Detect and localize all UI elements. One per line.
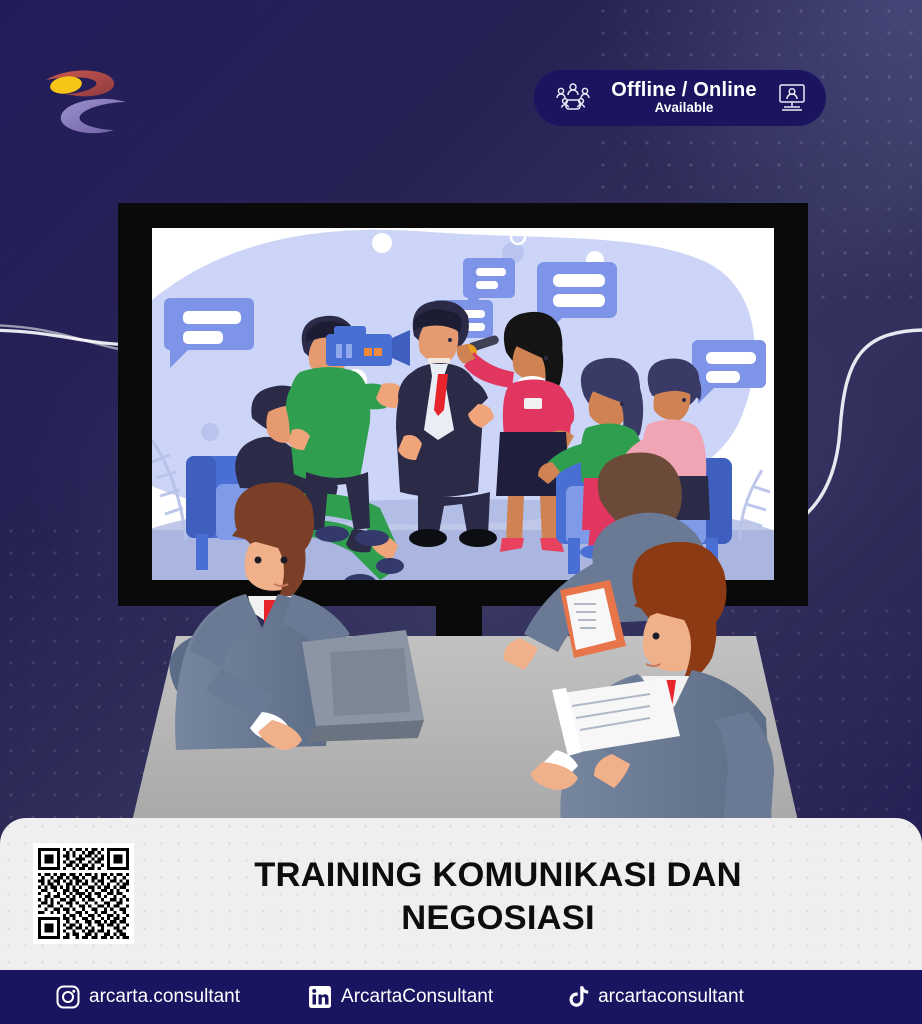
poster-root: Offline / Online Available bbox=[0, 0, 922, 1024]
social-linkedin[interactable]: ArcartaConsultant bbox=[308, 985, 493, 1009]
qr-code[interactable] bbox=[33, 843, 134, 944]
title-line-1: TRAINING KOMUNIKASI DAN bbox=[254, 854, 742, 897]
title-line-2: NEGOSIASI bbox=[401, 897, 595, 940]
instagram-handle: arcarta.consultant bbox=[89, 986, 240, 1008]
social-tiktok[interactable]: arcartaconsultant bbox=[567, 985, 744, 1009]
tiktok-icon bbox=[567, 985, 589, 1009]
linkedin-handle: ArcartaConsultant bbox=[341, 986, 493, 1008]
page-title: TRAINING KOMUNIKASI DAN NEGOSIASI bbox=[168, 838, 828, 956]
linkedin-icon bbox=[308, 985, 332, 1009]
instagram-icon bbox=[56, 985, 80, 1009]
presentation-training-illustration bbox=[0, 0, 922, 830]
tiktok-handle: arcartaconsultant bbox=[598, 986, 744, 1008]
social-footer: arcarta.consultant ArcartaConsultant arc… bbox=[0, 970, 922, 1024]
social-instagram[interactable]: arcarta.consultant bbox=[56, 985, 240, 1009]
qr-code-icon bbox=[38, 848, 129, 939]
